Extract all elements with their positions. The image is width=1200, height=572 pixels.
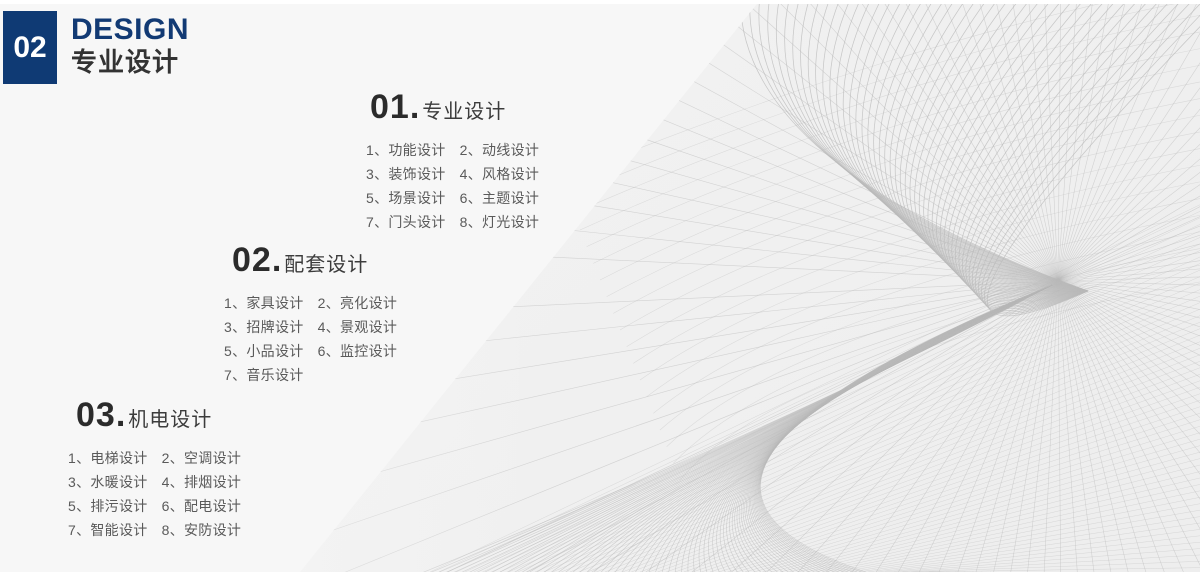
list-item-entry: 7、门头设计 (366, 210, 446, 234)
top-white-strip (0, 0, 1200, 4)
list-item-entry: 4、景观设计 (318, 315, 398, 339)
page-title-en: DESIGN (71, 15, 189, 45)
list-item: 7、智能设计8、安防设计 (68, 518, 241, 542)
section-01-list: 1、功能设计2、动线设计3、装饰设计4、风格设计5、场景设计6、主题设计7、门头… (366, 138, 539, 234)
list-item: 1、功能设计2、动线设计 (366, 138, 539, 162)
list-item-entry: 8、灯光设计 (460, 210, 540, 234)
list-item-entry: 2、空调设计 (162, 446, 242, 470)
header: 02 DESIGN 专业设计 (3, 11, 189, 84)
list-item: 7、音乐设计 (224, 363, 397, 387)
section-02: 02. 配套设计 1、家具设计2、亮化设计3、招牌设计4、景观设计5、小品设计6… (232, 243, 405, 387)
section-02-list: 1、家具设计2、亮化设计3、招牌设计4、景观设计5、小品设计6、监控设计7、音乐… (224, 291, 397, 387)
list-item: 5、场景设计6、主题设计 (366, 186, 539, 210)
section-02-title: 配套设计 (284, 255, 368, 275)
section-01-title: 专业设计 (422, 102, 506, 122)
list-item-entry: 1、家具设计 (224, 291, 304, 315)
list-item-entry: 6、主题设计 (460, 186, 540, 210)
section-03: 03. 机电设计 1、电梯设计2、空调设计3、水暖设计4、排烟设计5、排污设计6… (76, 398, 249, 542)
list-item: 1、家具设计2、亮化设计 (224, 291, 397, 315)
list-item: 3、招牌设计4、景观设计 (224, 315, 397, 339)
list-item-entry: 1、电梯设计 (68, 446, 148, 470)
section-01: 01. 专业设计 1、功能设计2、动线设计3、装饰设计4、风格设计5、场景设计6… (370, 90, 543, 234)
list-item-entry: 5、小品设计 (224, 339, 304, 363)
section-03-title: 机电设计 (128, 410, 212, 430)
list-item: 1、电梯设计2、空调设计 (68, 446, 241, 470)
list-item-entry: 2、亮化设计 (318, 291, 398, 315)
list-item-entry: 4、风格设计 (460, 162, 540, 186)
list-item: 5、小品设计6、监控设计 (224, 339, 397, 363)
list-item-entry: 8、安防设计 (162, 518, 242, 542)
list-item: 3、装饰设计4、风格设计 (366, 162, 539, 186)
list-item-entry: 2、动线设计 (460, 138, 540, 162)
list-item-entry: 3、水暖设计 (68, 470, 148, 494)
list-item-entry: 3、装饰设计 (366, 162, 446, 186)
slide: 02 DESIGN 专业设计 01. 专业设计 1、功能设计2、动线设计3、装饰… (0, 0, 1200, 572)
section-02-heading: 02. 配套设计 (232, 243, 405, 277)
section-badge: 02 (3, 11, 57, 84)
list-item-entry: 4、排烟设计 (162, 470, 242, 494)
list-item: 5、排污设计6、配电设计 (68, 494, 241, 518)
list-item-entry: 7、音乐设计 (224, 363, 304, 387)
section-03-number: 03. (76, 398, 126, 432)
section-03-heading: 03. 机电设计 (76, 398, 249, 432)
list-item-entry: 6、监控设计 (318, 339, 398, 363)
section-01-heading: 01. 专业设计 (370, 90, 543, 124)
list-item: 7、门头设计8、灯光设计 (366, 210, 539, 234)
list-item-entry: 6、配电设计 (162, 494, 242, 518)
list-item-entry: 3、招牌设计 (224, 315, 304, 339)
section-01-number: 01. (370, 90, 420, 124)
section-02-number: 02. (232, 243, 282, 277)
list-item-entry: 1、功能设计 (366, 138, 446, 162)
header-titles: DESIGN 专业设计 (71, 15, 189, 78)
list-item-entry: 5、排污设计 (68, 494, 148, 518)
list-item-entry: 5、场景设计 (366, 186, 446, 210)
section-03-list: 1、电梯设计2、空调设计3、水暖设计4、排烟设计5、排污设计6、配电设计7、智能… (68, 446, 241, 542)
list-item-entry: 7、智能设计 (68, 518, 148, 542)
page-title-cn: 专业设计 (71, 48, 189, 78)
list-item: 3、水暖设计4、排烟设计 (68, 470, 241, 494)
